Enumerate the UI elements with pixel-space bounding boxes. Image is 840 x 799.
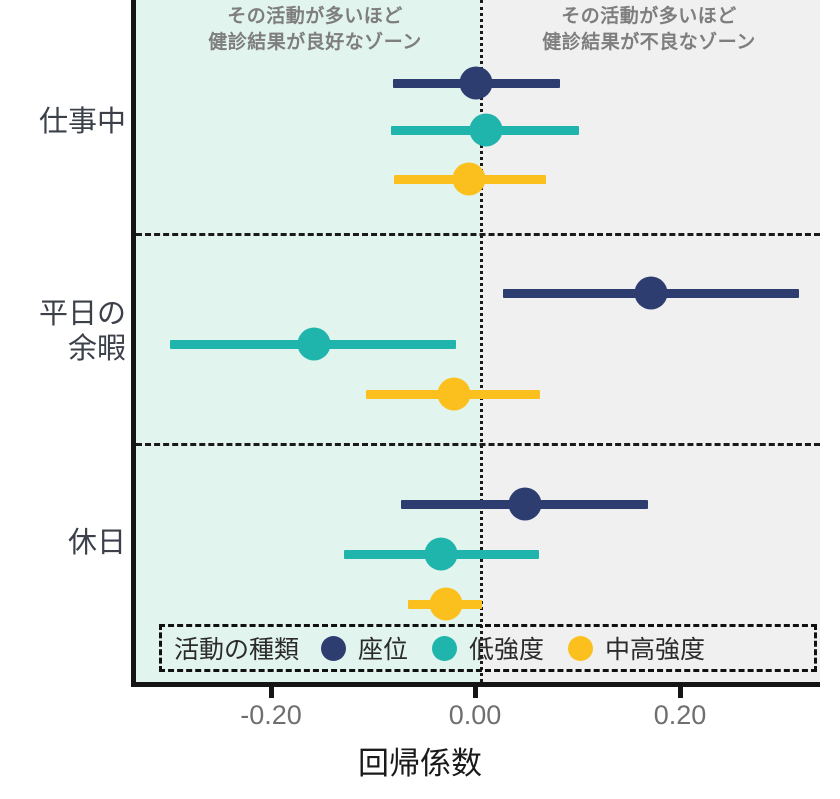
data-point-light-intensity-0[interactable]	[470, 114, 503, 147]
group-separator-2	[136, 443, 820, 446]
good-zone-annotation: その活動が多いほど 健診結果が良好なゾーン	[150, 4, 480, 55]
x-tick-label-1: 0.00	[415, 700, 535, 731]
legend-swatch-light-intensity	[432, 636, 457, 661]
legend-swatch-moderate-vigorous	[568, 636, 593, 661]
legend-item-sedentary[interactable]: 座位	[321, 630, 408, 666]
x-tick-label-2: 0.20	[620, 700, 740, 731]
y-axis-label-weekday-leisure: 平日の 余暇	[6, 297, 126, 368]
bad-zone-annotation: その活動が多いほど 健診結果が不良なゾーン	[484, 4, 814, 55]
legend-label-sedentary: 座位	[358, 630, 408, 666]
y-axis-label-holiday: 休日	[6, 526, 126, 561]
data-point-sedentary-1[interactable]	[635, 277, 668, 310]
x-tick-0	[269, 687, 274, 698]
plot-area: その活動が多いほど 健診結果が良好なゾーン その活動が多いほど 健診結果が不良な…	[131, 0, 820, 687]
legend-item-light-intensity[interactable]: 低強度	[432, 630, 544, 666]
data-point-light-intensity-2[interactable]	[424, 538, 457, 571]
legend-label-moderate-vigorous: 中高強度	[605, 630, 705, 666]
zero-reference-line	[480, 0, 483, 682]
data-point-sedentary-0[interactable]	[459, 67, 492, 100]
forest-plot-figure: 仕事中 平日の 余暇 休日 その活動が多いほど 健診結果が良好なゾーン その活動…	[0, 0, 840, 799]
bad-zone-background	[480, 0, 820, 682]
x-tick-2	[678, 687, 683, 698]
data-point-moderate-vigorous-1[interactable]	[437, 378, 470, 411]
group-separator-1	[136, 233, 820, 236]
legend[interactable]: 活動の種類 座位 低強度 中高強度	[159, 624, 817, 672]
legend-title: 活動の種類	[174, 630, 299, 666]
y-axis-label-work: 仕事中	[6, 105, 126, 140]
legend-swatch-sedentary	[321, 636, 346, 661]
legend-item-moderate-vigorous[interactable]: 中高強度	[568, 630, 705, 666]
data-point-moderate-vigorous-2[interactable]	[429, 588, 462, 621]
data-point-sedentary-2[interactable]	[509, 488, 542, 521]
data-point-moderate-vigorous-0[interactable]	[452, 163, 485, 196]
x-tick-1	[473, 687, 478, 698]
x-tick-label-0: -0.20	[211, 700, 331, 731]
legend-label-light-intensity: 低強度	[469, 630, 544, 666]
x-axis-title: 回帰係数	[0, 738, 840, 783]
data-point-light-intensity-1[interactable]	[297, 328, 330, 361]
